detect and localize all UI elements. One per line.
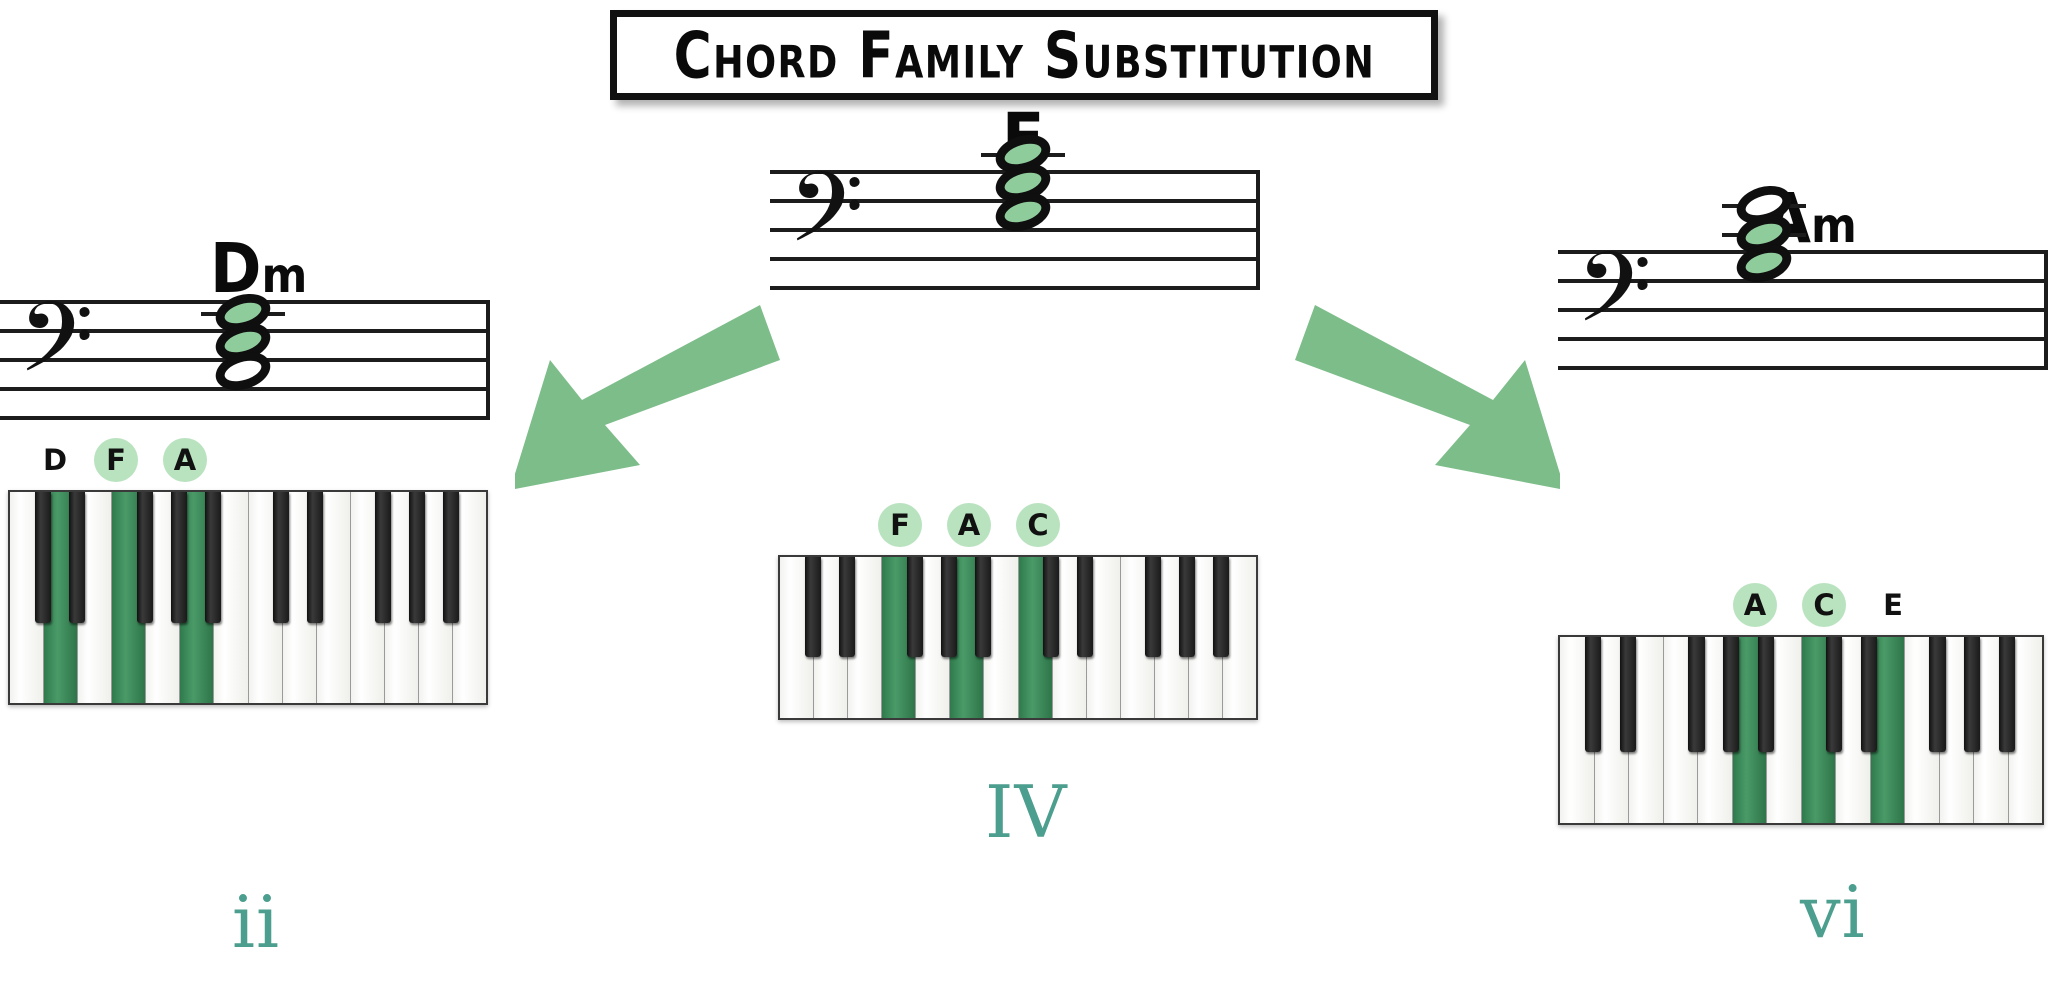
white-keys [10,492,486,703]
panel-chord-dm: Dm 𝄢 [0,300,490,420]
keyboard-f[interactable] [778,555,1258,720]
title-banner: Chord Family Substitution [610,10,1438,100]
white-keys [1560,637,2042,823]
white-key-c[interactable] [1560,637,1595,823]
note-label-f: F [878,503,922,547]
staff-am: 𝄢 [1558,250,2048,370]
white-key-c2[interactable] [1802,637,1837,823]
roman-numeral-ii: ii [232,880,280,964]
white-key-d2[interactable] [1836,637,1871,823]
roman-numeral-iv: IV [985,770,1067,854]
white-key-d[interactable] [1595,637,1630,823]
white-key-g2[interactable] [385,492,419,703]
arrow-to-vi-icon [1290,300,1560,500]
white-key-e2[interactable] [1871,637,1906,823]
note-label-f: F [94,438,138,482]
white-key-f2[interactable] [1905,637,1940,823]
note-label-c: C [1802,583,1846,627]
note-label-e: E [1871,583,1915,627]
white-key-f[interactable] [1664,637,1699,823]
white-key-f2[interactable] [351,492,385,703]
white-key-d[interactable] [44,492,78,703]
arrow-to-ii-icon [515,300,785,500]
white-key-e[interactable] [1629,637,1664,823]
keyboard-am[interactable] [1558,635,2044,825]
white-key-b[interactable] [984,557,1018,718]
roman-numeral-vi: vi [1800,870,1866,954]
white-key-a2[interactable] [419,492,453,703]
panel-chord-f: F 𝄢 [770,170,1260,290]
white-key-e2[interactable] [1087,557,1121,718]
white-key-f[interactable] [882,557,916,718]
diagram-canvas: Chord Family Substitution Dm 𝄢 [0,0,2048,995]
white-key-b2[interactable] [2009,637,2043,823]
white-key-d2[interactable] [1053,557,1087,718]
note-label-a: A [163,438,207,482]
note-label-a: A [947,503,991,547]
barline [486,300,490,420]
white-key-e2[interactable] [317,492,351,703]
white-key-e[interactable] [78,492,112,703]
barline [1256,170,1260,290]
white-key-a[interactable] [180,492,214,703]
page-title: Chord Family Substitution [673,18,1375,92]
white-key-b[interactable] [1767,637,1802,823]
white-key-g[interactable] [916,557,950,718]
white-key-c[interactable] [780,557,814,718]
staff-dm: 𝄢 [0,300,490,420]
white-key-a2[interactable] [1189,557,1223,718]
bass-clef-icon: 𝄢 [1576,240,1652,358]
barline [2044,250,2048,370]
white-key-c[interactable] [10,492,44,703]
white-key-b2[interactable] [1223,557,1256,718]
white-keys [780,557,1256,718]
white-key-g2[interactable] [1155,557,1189,718]
bass-clef-icon: 𝄢 [18,290,94,408]
white-key-c2[interactable] [249,492,283,703]
white-key-d[interactable] [814,557,848,718]
bass-clef-icon: 𝄢 [788,160,864,278]
white-key-g[interactable] [146,492,180,703]
panel-chord-am: Am 𝄢 [1558,250,2048,370]
white-key-f[interactable] [112,492,146,703]
note-label-a: A [1733,583,1777,627]
keyboard-dm[interactable] [8,490,488,705]
white-key-a[interactable] [950,557,984,718]
white-key-f2[interactable] [1121,557,1155,718]
white-key-b[interactable] [214,492,248,703]
white-key-b2[interactable] [453,492,486,703]
white-key-d2[interactable] [283,492,317,703]
white-key-a[interactable] [1733,637,1768,823]
note-label-d: D [33,438,77,482]
white-key-g2[interactable] [1940,637,1975,823]
white-key-a2[interactable] [1974,637,2009,823]
white-key-g[interactable] [1698,637,1733,823]
note-label-c: C [1016,503,1060,547]
white-key-e[interactable] [848,557,882,718]
white-key-c2[interactable] [1019,557,1053,718]
staff-f: 𝄢 [770,170,1260,290]
